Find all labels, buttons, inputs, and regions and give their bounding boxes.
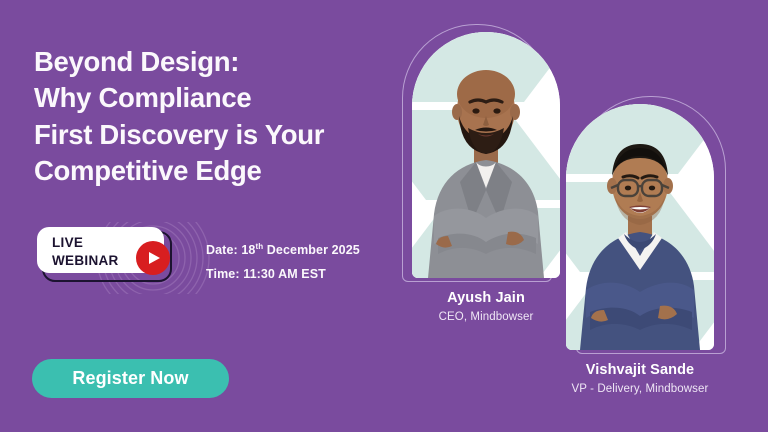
speaker-photo-1 — [412, 32, 560, 278]
date-rest: December 2025 — [267, 243, 360, 257]
webinar-banner: Beyond Design: Why Compliance First Disc… — [0, 0, 768, 432]
date-line: Date: 18th December 2025 — [206, 238, 360, 262]
schedule-info: Date: 18th December 2025 Time: 11:30 AM … — [206, 238, 360, 287]
speaker-role: CEO, Mindbowser — [412, 311, 560, 323]
time-value: 11:30 AM EST — [243, 267, 326, 281]
date-label: Date: — [206, 243, 238, 257]
live-webinar-badge[interactable]: LIVE WEBINAR — [30, 222, 210, 294]
portrait-vishvajit-sande — [566, 104, 714, 350]
speaker-name: Vishvajit Sande — [566, 362, 714, 378]
play-icon[interactable] — [136, 241, 170, 275]
time-label: Time: — [206, 267, 240, 281]
time-line: Time: 11:30 AM EST — [206, 262, 360, 286]
live-webinar-label: LIVE WEBINAR — [52, 234, 119, 270]
register-now-button[interactable]: Register Now — [32, 359, 229, 398]
speaker-name: Ayush Jain — [412, 290, 560, 306]
portrait-ayush-jain — [412, 32, 560, 278]
date-ordinal: th — [255, 242, 263, 251]
page-title: Beyond Design: Why Compliance First Disc… — [34, 44, 404, 189]
date-day: 18 — [241, 243, 255, 257]
play-triangle — [149, 252, 160, 264]
speaker-photo-2 — [566, 104, 714, 350]
speaker-role: VP - Delivery, Mindbowser — [554, 383, 726, 395]
